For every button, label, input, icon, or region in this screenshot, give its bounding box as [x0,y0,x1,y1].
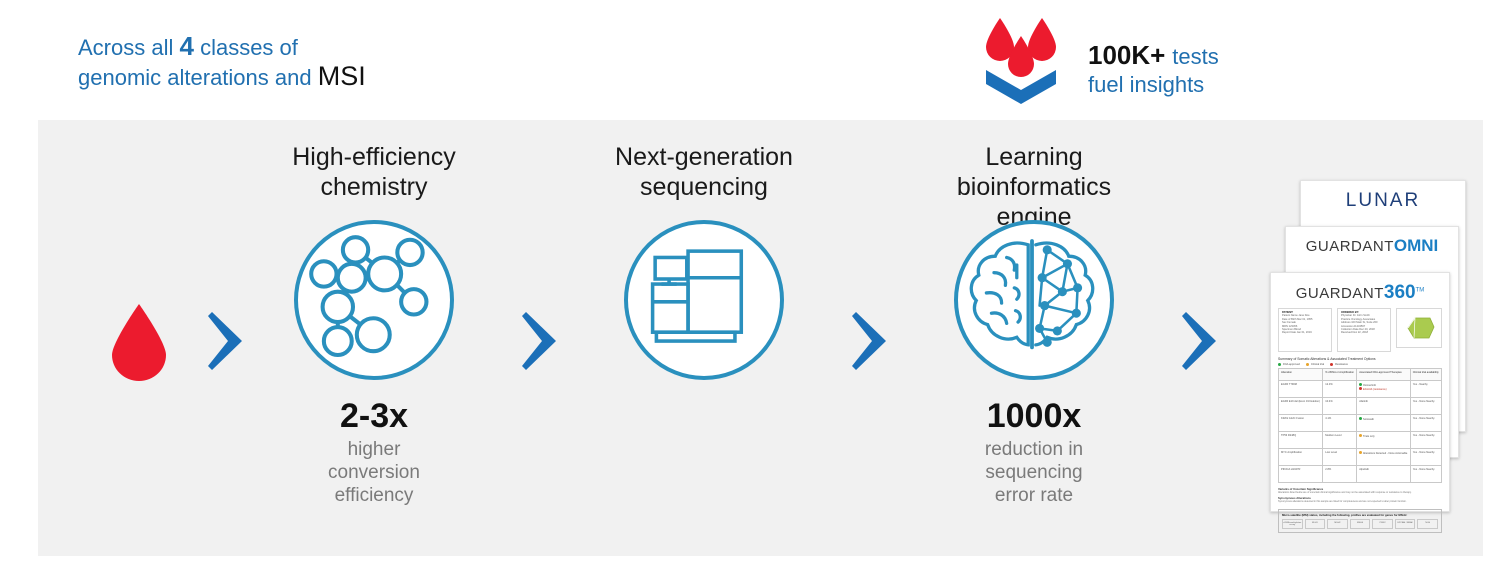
headline-msi: MSI [318,61,366,91]
stage-learning-bioinformatics-engine: Learning bioinformatics engine [920,120,1148,507]
stage-1-stat-number: 2-3x [260,396,488,436]
report-sheet-guardant360[interactable]: GUARDANT360TM PATIENT: Patient Name Jane… [1270,272,1450,512]
stage-3-title-line2: bioinformatics [957,173,1111,201]
tests-stat-line: 100K+ tests [1088,40,1219,72]
brain-network-icon [956,222,1108,374]
ordering-row: Received Dec 22, 2018 [1341,331,1387,334]
report-body: PATIENT: Patient Name Jane Doe Date of B… [1271,304,1449,533]
somatic-alterations-table: Alteration % cfDNA or Amplification Asso… [1278,368,1442,483]
msi-cell: MLH1 [1305,519,1326,529]
stage-high-efficiency-chemistry: High-efficiency chemistry [260,120,488,507]
stage-2-title-line2: sequencing [640,173,768,201]
headline-line1-post: classes of [194,35,298,60]
brand-text-guardant: GUARDANT [1306,238,1394,255]
stage-1-title: High-efficiency chemistry [260,120,488,202]
trademark-mark: TM [1416,288,1425,294]
brand-text-guardant: GUARDANT [1296,285,1384,302]
legend-label: Resistance [1335,363,1348,366]
legend-label: FDA-approved [1283,363,1300,366]
stage-3-stat-text: reduction in sequencing error rate [920,438,1148,507]
stage-1-stat-line2: conversion [328,462,420,483]
brand-text-lunar: LUNAR [1346,190,1420,211]
table-row: TP53 R248Q Medium Level Trials only Yes … [1279,432,1442,449]
stage-3-stat-number: 1000x [920,396,1148,436]
summary-title: Summary of Somatic Alterations & Associa… [1278,357,1442,361]
msi-cell: EPCAM / BRAF [1395,519,1416,529]
infographic-root: Across all 4 classes of genomic alterati… [0,0,1500,577]
legend-item: FDA-approved [1278,363,1300,366]
stage-next-generation-sequencing: Next-generation sequencing [590,120,818,380]
table-row: EGFR T790M 12.3% Osimertinib Erlotinib (… [1279,381,1442,398]
headline-class-count: 4 [179,31,193,61]
chevron-right-icon [850,310,892,372]
report-stack: LUNAR GUARDANTOMNI GUARDANT360TM PATIENT [1270,180,1466,510]
table-row: EGFR E19 del (Exon 19 Deletion) 10.4% Af… [1279,398,1442,415]
msi-cell: MSH6 [1350,519,1371,529]
col-percent: % cfDNA or Amplification [1323,369,1357,381]
blood-droplet-icon [110,303,168,381]
stage-1-stat-line3: efficiency [335,485,414,506]
msi-gene-cells: cfDNA methylation assay MLH1 MSH2 MSH6 P… [1282,519,1438,529]
tumor-response-graphic [1396,308,1442,348]
report-brand-lunar: LUNAR [1301,181,1465,212]
msi-cell: NGS [1417,519,1438,529]
sequencer-machine-icon [626,222,778,374]
chevron-right-icon [520,310,562,372]
headline-line1-pre: Across all [78,35,179,60]
brand-text-omni: OMNI [1394,236,1438,255]
stage-3-icon-circle [954,220,1114,380]
msi-cell: MSH2 [1327,519,1348,529]
msi-panel-box: Micro-satellite (MSI) status, including … [1278,509,1442,533]
tests-unit: tests [1172,44,1218,69]
msi-cell: cfDNA methylation assay [1282,519,1303,529]
stage-3-stat-line1: reduction in [985,439,1083,460]
report-meta-row: PATIENT: Patient Name Jane Doe Date of B… [1278,308,1442,352]
note-body: Alterations listed below are of uncertai… [1278,491,1442,494]
brand-text-360: 360 [1384,282,1416,303]
tests-volume-callout: 100K+ tests fuel insights [980,14,1380,110]
chevron-right-icon [206,310,248,372]
patient-row: Report Date Jan 01, 2019 [1282,331,1328,334]
msi-cell: PMS2 [1372,519,1393,529]
guardant-droplets-logo [980,14,1076,106]
stage-1-title-line2: chemistry [321,173,428,201]
col-therapies: Associated FDA-approved Therapies [1357,369,1411,381]
chevron-right-icon [1180,310,1222,372]
headline-genomic-classes: Across all 4 classes of genomic alterati… [78,32,498,92]
table-row: PIK3CA H1047R 2.8% Alpelisib Yes - None … [1279,466,1442,483]
tests-count: 100K+ [1088,40,1165,70]
report-patient-block: PATIENT: Patient Name Jane Doe Date of B… [1278,308,1332,352]
stage-1-stat-text: higher conversion efficiency [260,438,488,507]
report-brand-omni: GUARDANTOMNI [1286,227,1458,256]
table-row: MYC Amplification Low Level Alterations … [1279,449,1442,466]
col-alteration: Alteration [1279,369,1323,381]
stage-1-stat-line1: higher [348,439,401,460]
tests-subtitle: fuel insights [1088,72,1204,98]
green-polygon-icon [1402,314,1436,342]
stage-2-title-line1: Next-generation [615,143,793,171]
workflow-panel: High-efficiency chemistry [38,120,1483,556]
report-brand-360: GUARDANT360TM [1271,273,1449,304]
stage-2-icon-circle [624,220,784,380]
stage-1-icon-circle [294,220,454,380]
table-header-row: Alteration % cfDNA or Amplification Asso… [1279,369,1442,381]
stage-3-stat-line3: error rate [995,485,1073,506]
headline-line2-pre: genomic alterations and [78,65,318,90]
msi-panel-title: Micro-satellite (MSI) status, including … [1282,513,1438,517]
legend-item: Clinical trial [1306,363,1324,366]
report-notes: Variants of Uncertain Significance Alter… [1278,487,1442,503]
summary-legend: FDA-approved Clinical trial Resistance [1278,363,1442,366]
molecule-icon [296,222,448,374]
legend-item: Resistance [1330,363,1348,366]
col-trials: Clinical trial availability [1410,369,1441,381]
note-body: Synonymous alterations detected in this … [1278,500,1442,503]
stage-1-title-line1: High-efficiency [292,143,456,171]
stage-3-title: Learning bioinformatics engine [920,120,1148,232]
report-ordering-block: ORDERED BY: Physician Dr. John Smith Pra… [1337,308,1391,352]
stage-3-title-line1: Learning [985,143,1082,171]
table-row: KRAS G12C Fusion 4.1% Sotorasib Yes - No… [1279,415,1442,432]
legend-label: Clinical trial [1311,363,1324,366]
stage-3-stat-line2: sequencing [985,462,1082,483]
stage-2-title: Next-generation sequencing [590,120,818,202]
